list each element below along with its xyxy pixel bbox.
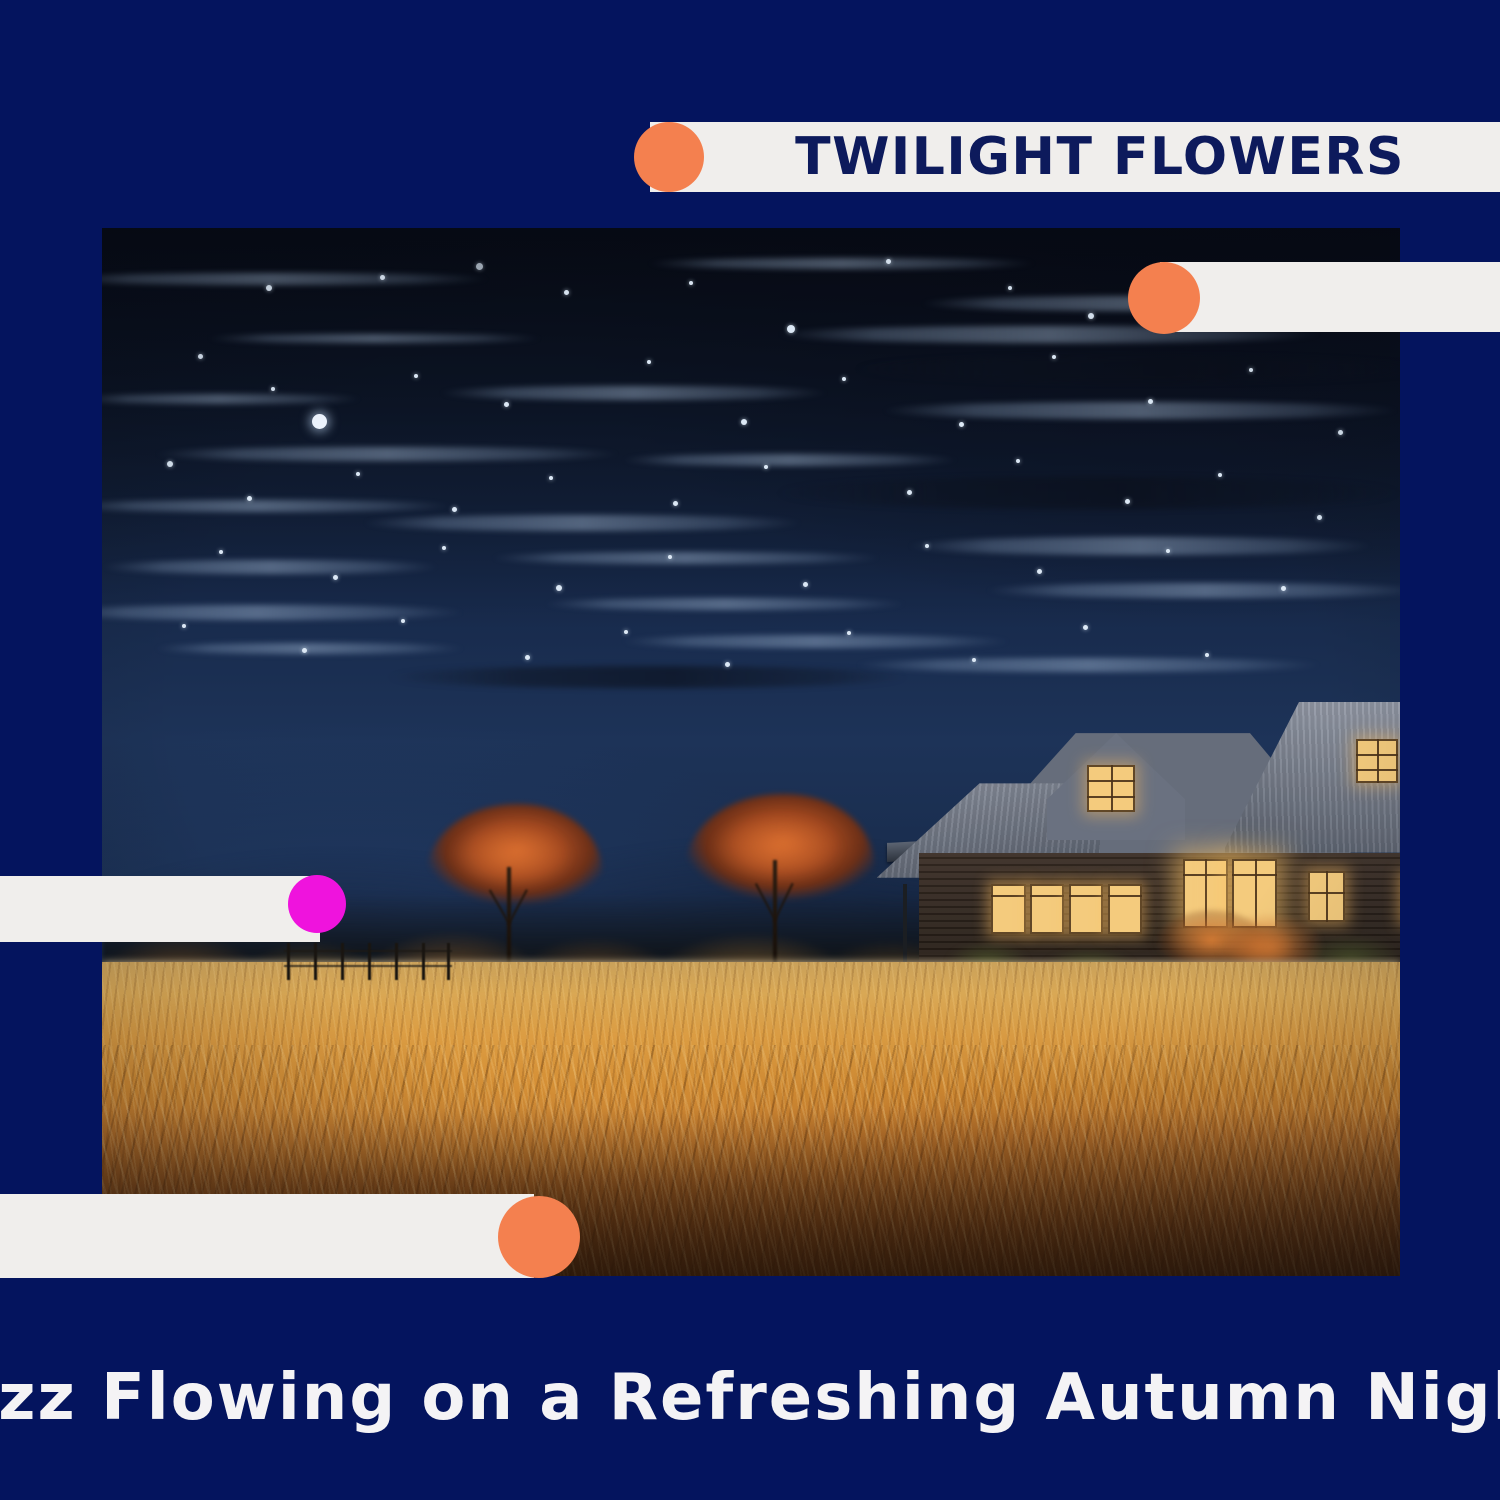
decor-dot-upper-right-orange <box>1128 262 1200 334</box>
main-window-1 <box>991 884 1026 934</box>
decor-dot-bottom-left-orange <box>498 1196 580 1278</box>
wooden-fence <box>284 943 453 981</box>
artwork-photo <box>102 228 1400 1276</box>
main-window-2 <box>1030 884 1065 934</box>
main-window-3 <box>1069 884 1104 934</box>
track-title: Jazz Flowing on a Refreshing Autumn Nigh… <box>0 1348 1500 1448</box>
decor-bar-upper-right <box>1160 262 1500 332</box>
autumn-tree-left <box>427 804 602 987</box>
album-cover: TWILIGHT FLOWERS Jazz Flowing on a Refre… <box>0 0 1500 1500</box>
main-window-7 <box>1308 871 1345 921</box>
upper-right-window <box>1356 739 1399 783</box>
decor-dot-mid-left-magenta <box>288 875 346 933</box>
decor-bar-bottom-left <box>0 1194 534 1278</box>
autumn-tree-right <box>686 794 874 988</box>
decor-dot-title-orange <box>634 122 704 192</box>
decor-bar-mid-left <box>0 876 320 942</box>
dormer-window <box>1087 765 1135 812</box>
main-window-4 <box>1108 884 1143 934</box>
album-title: TWILIGHT FLOWERS <box>700 122 1500 192</box>
